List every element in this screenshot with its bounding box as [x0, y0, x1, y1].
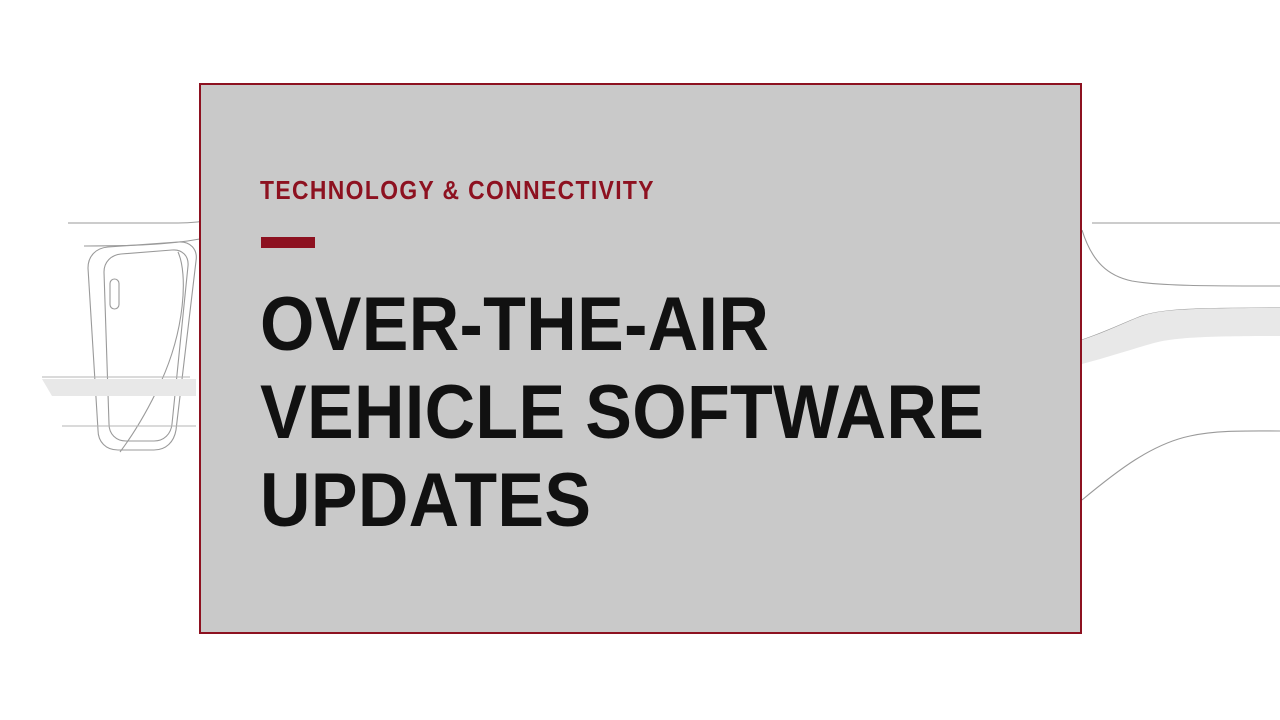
left-sill-band	[42, 379, 196, 396]
eyebrow-label: TECHNOLOGY & CONNECTIVITY	[260, 177, 655, 203]
slide-canvas: TECHNOLOGY & CONNECTIVITY OVER-THE-AIR V…	[0, 0, 1280, 720]
accent-bar	[261, 237, 315, 248]
headline-line-1: OVER-THE-AIR	[260, 281, 987, 369]
right-body-band	[1082, 308, 1280, 364]
page-title: OVER-THE-AIR VEHICLE SOFTWARE UPDATES	[260, 281, 1050, 545]
panel-content: TECHNOLOGY & CONNECTIVITY OVER-THE-AIR V…	[260, 85, 1050, 632]
right-line-art	[1082, 223, 1280, 500]
headline-line-2: VEHICLE SOFTWARE	[260, 369, 987, 457]
content-panel: TECHNOLOGY & CONNECTIVITY OVER-THE-AIR V…	[199, 83, 1082, 634]
headline-line-3: UPDATES	[260, 457, 987, 545]
